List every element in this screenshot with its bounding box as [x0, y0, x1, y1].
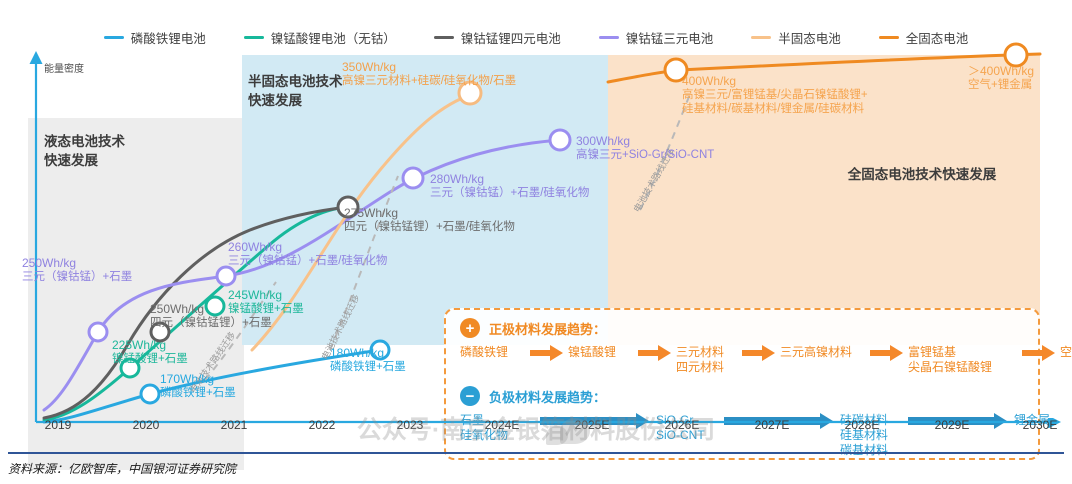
y-axis-label: 能量密度	[44, 60, 84, 75]
callout-ncml-275-value: 275Wh/kg	[344, 206, 515, 220]
legend-label-semi-solid: 半固态电池	[778, 28, 841, 47]
callout-ncml-250-materials: 四元（镍钴锰锂）+石墨	[150, 316, 272, 330]
legend-label-lnmo: 镍锰酸锂电池（无钴）	[271, 28, 396, 47]
watermark-text: 公众号·南京金银箔材料股份公司	[357, 410, 715, 446]
callout-ncm-260-materials: 三元（镍钴锰）+石墨/硅氧化物	[228, 254, 387, 268]
callout-lfp-180-value: 180Wh/kg	[330, 346, 406, 360]
callout-ncm-250: 250Wh/kg 三元（镍钴锰）+石墨	[22, 256, 132, 284]
cathode-step-4: 三元高镍材料	[780, 345, 866, 360]
legend-label-ncm: 镍钴锰三元电池	[626, 28, 714, 47]
callout-ncml-275-materials: 四元（镍钴锰锂）+石墨/硅氧化物	[344, 220, 515, 234]
callout-solid-400-materials-line1: 高镍三元/富锂锰基/尖晶石镍锰酸锂+	[682, 88, 868, 102]
cathode-step-2: 镍锰酸锂	[568, 345, 634, 360]
data-point-ncm-280	[403, 168, 423, 188]
callout-lnmo-225-value: 225Wh/kg	[112, 338, 188, 352]
legend-item-lfp: 磷酸铁锂电池	[104, 28, 206, 47]
callout-ncm-260-value: 260Wh/kg	[228, 240, 387, 254]
footer-divider	[8, 452, 1064, 454]
cathode-arrow-2	[638, 345, 672, 361]
legend-item-semi-solid: 半固态电池	[751, 28, 841, 47]
callout-semi-350-materials: 高镍三元材料+硅碳/硅氧化物/石墨	[342, 74, 516, 88]
cathode-step-5: 富锂锰基 尖晶石镍锰酸锂	[908, 345, 1018, 375]
data-point-ncm-300	[550, 130, 570, 150]
callout-solid-400plus-value: ＞400Wh/kg	[968, 64, 1034, 78]
callout-lnmo-225-materials: 镍锰酸锂+石墨	[112, 352, 188, 366]
callout-semi-350: 350Wh/kg 高镍三元材料+硅碳/硅氧化物/石墨	[342, 60, 516, 88]
legend-item-lnmo: 镍锰酸锂电池（无钴）	[244, 28, 396, 47]
cathode-arrow-3	[742, 345, 776, 361]
callout-lfp-170-value: 170Wh/kg	[160, 372, 236, 386]
legend-swatch-ncm	[599, 36, 619, 39]
data-point-lfp-170	[141, 385, 159, 403]
callout-ncm-300-materials: 高镍三元+SiO-Gr/SiO-CNT	[576, 148, 714, 162]
legend-swatch-ncml	[434, 36, 454, 39]
legend-swatch-semi-solid	[751, 36, 771, 39]
callout-solid-400: 400Wh/kg 高镍三元/富锂锰基/尖晶石镍锰酸锂+ 硅基材料/碳基材料/锂金…	[682, 74, 868, 116]
callout-lfp-170: 170Wh/kg 磷酸铁锂+石墨	[160, 372, 236, 400]
callout-lfp-180-materials: 磷酸铁锂+石墨	[330, 360, 406, 374]
legend-swatch-solid	[879, 36, 899, 39]
callout-lfp-180: 180Wh/kg 磷酸铁锂+石墨	[330, 346, 406, 374]
legend-label-solid: 全固态电池	[906, 28, 969, 47]
callout-solid-400-value: 400Wh/kg	[682, 74, 868, 88]
callout-ncm-280-value: 280Wh/kg	[430, 172, 589, 186]
anode-trend-header: − 负极材料发展趋势：	[460, 386, 1050, 406]
cathode-arrow-5	[1022, 345, 1056, 361]
callout-solid-400plus-materials: 空气+锂金属	[968, 78, 1034, 92]
callout-semi-350-value: 350Wh/kg	[342, 60, 516, 74]
cathode-trend-section: + 正极材料发展趋势： 磷酸铁锂 镍锰酸锂 三元材料 四元材料	[460, 318, 1072, 375]
plot-area: 液态电池技术 快速发展 半固态电池技术 快速发展 全固态电池技术快速发展	[0, 50, 1072, 425]
minus-icon: −	[460, 386, 480, 406]
cathode-step-1: 磷酸铁锂	[460, 345, 526, 360]
data-point-ncm-260	[217, 267, 235, 285]
callout-ncm-300: 300Wh/kg 高镍三元+SiO-Gr/SiO-CNT	[576, 134, 714, 162]
legend-item-ncm: 镍钴锰三元电池	[599, 28, 714, 47]
cathode-arrow-1	[530, 345, 564, 361]
legend-swatch-lfp	[104, 36, 124, 39]
data-point-solid-400plus	[1005, 44, 1027, 66]
source-note: 资料来源：亿欧智库，中国银河证券研究院	[8, 460, 236, 477]
legend-item-ncml: 镍钴锰锂四元电池	[434, 28, 561, 47]
legend-item-solid: 全固态电池	[879, 28, 969, 47]
callout-solid-400-materials-line2: 硅基材料/碳基材料/锂金属/硅碳材料	[682, 102, 868, 116]
cathode-step-3: 三元材料 四元材料	[676, 345, 738, 375]
x-tick-2021: 2021	[221, 418, 248, 432]
cathode-step-6: 空气	[1060, 345, 1072, 360]
callout-ncm-280-materials: 三元（镍钴锰）+石墨/硅氧化物	[430, 186, 589, 200]
x-tick-2029E: 2029E	[935, 418, 970, 432]
x-tick-2027E: 2027E	[755, 418, 790, 432]
plus-icon: +	[460, 318, 480, 338]
callout-solid-400plus: ＞400Wh/kg 空气+锂金属	[968, 64, 1034, 92]
legend-label-ncml: 镍钴锰锂四元电池	[461, 28, 561, 47]
callout-ncm-300-value: 300Wh/kg	[576, 134, 714, 148]
callout-ncml-250-value: 250Wh/kg	[150, 302, 272, 316]
x-tick-2020: 2020	[133, 418, 160, 432]
x-tick-2019: 2019	[45, 418, 72, 432]
x-tick-2030E: 2030E	[1023, 418, 1058, 432]
cathode-trend-steps: 磷酸铁锂 镍锰酸锂 三元材料 四元材料 三元高镍材料	[460, 345, 1072, 375]
chart-root: 磷酸铁锂电池 镍锰酸锂电池（无钴） 镍钴锰锂四元电池 镍钴锰三元电池 半固态电池…	[0, 0, 1072, 484]
callout-ncm-250-materials: 三元（镍钴锰）+石墨	[22, 270, 132, 284]
legend-swatch-lnmo	[244, 36, 264, 39]
callout-lnmo-245-value: 245Wh/kg	[228, 288, 304, 302]
callout-lnmo-225: 225Wh/kg 镍锰酸锂+石墨	[112, 338, 188, 366]
callout-lfp-170-materials: 磷酸铁锂+石墨	[160, 386, 236, 400]
callout-ncm-250-value: 250Wh/kg	[22, 256, 132, 270]
x-tick-2022: 2022	[309, 418, 336, 432]
x-tick-2028E: 2028E	[845, 418, 880, 432]
callout-ncml-275: 275Wh/kg 四元（镍钴锰锂）+石墨/硅氧化物	[344, 206, 515, 234]
data-point-ncm-250	[89, 323, 107, 341]
callout-ncm-280: 280Wh/kg 三元（镍钴锰）+石墨/硅氧化物	[430, 172, 589, 200]
callout-ncm-260: 260Wh/kg 三元（镍钴锰）+石墨/硅氧化物	[228, 240, 387, 268]
cathode-trend-title: 正极材料发展趋势：	[489, 319, 606, 338]
legend-label-lfp: 磷酸铁锂电池	[131, 28, 206, 47]
cathode-trend-header: + 正极材料发展趋势：	[460, 318, 1072, 338]
cathode-arrow-4	[870, 345, 904, 361]
anode-trend-title: 负极材料发展趋势：	[489, 387, 606, 406]
callout-ncml-250: 250Wh/kg 四元（镍钴锰锂）+石墨	[150, 302, 272, 330]
chart-legend: 磷酸铁锂电池 镍锰酸锂电池（无钴） 镍钴锰锂四元电池 镍钴锰三元电池 半固态电池…	[0, 26, 1072, 48]
